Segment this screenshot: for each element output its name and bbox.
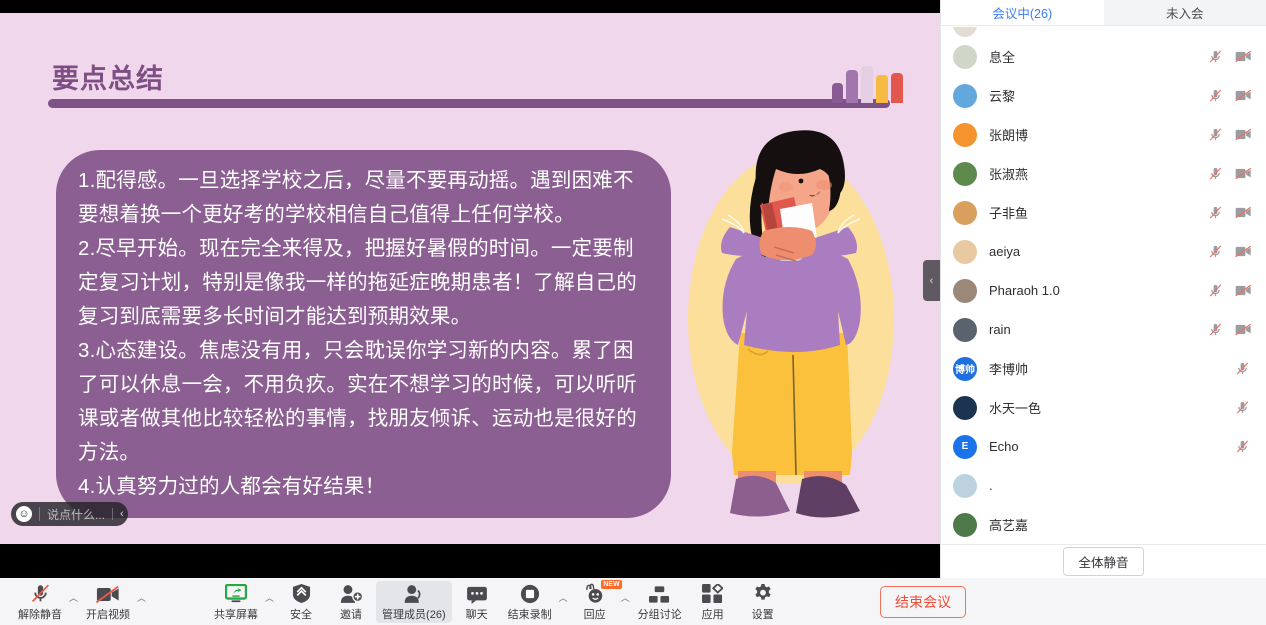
mic-off-icon[interactable]	[1208, 127, 1223, 142]
participant-name: .	[989, 478, 1250, 493]
mic-off-icon[interactable]	[1208, 283, 1223, 298]
toolbar-button-label: 结束录制	[508, 606, 552, 622]
avatar	[953, 45, 977, 69]
title-underline	[48, 99, 890, 108]
participant-status-icons	[1208, 283, 1250, 298]
participant-status-icons	[1235, 400, 1250, 415]
toolbar-button-label: 设置	[752, 606, 774, 622]
panel-collapse-handle[interactable]: ‹	[923, 260, 940, 301]
mic-off-icon[interactable]	[1208, 322, 1223, 337]
chevron-up-icon[interactable]: ︿	[559, 581, 568, 604]
gear-icon	[753, 583, 773, 604]
student-illustration	[676, 123, 906, 523]
share-screen-icon	[225, 583, 247, 604]
participant-row[interactable]: EEcho	[941, 427, 1266, 466]
participant-name: 云黎	[989, 86, 1208, 105]
camera-off-icon	[96, 583, 120, 604]
participants-panel-footer: 全体静音	[941, 544, 1266, 578]
partially-scrolled-avatar	[953, 27, 977, 37]
participants-panel: 会议中(26) 未入会 息全云黎张朗博张淑燕子非鱼aeiyaPharaoh 1.…	[940, 0, 1266, 578]
invite-user-icon	[340, 583, 363, 604]
toolbar-button-stop-record[interactable]: 结束录制	[502, 581, 558, 623]
participant-status-icons	[1208, 244, 1250, 259]
slide-paragraph-1: 1.配得感。一旦选择学校之后，尽量不要再动摇。遇到困难不要想着换一个更好考的学校…	[78, 164, 647, 232]
participant-row[interactable]: 张朗博	[941, 115, 1266, 154]
participant-row[interactable]: 张淑燕	[941, 154, 1266, 193]
toolbar-button-reaction[interactable]: NEW回应	[570, 581, 620, 623]
mic-off-icon[interactable]	[1208, 244, 1223, 259]
toolbar-button-chat[interactable]: 聊天	[452, 581, 502, 623]
mic-off-icon[interactable]	[1208, 49, 1223, 64]
toolbar-button-label: 开启视频	[86, 606, 130, 622]
avatar	[953, 162, 977, 186]
participant-status-icons	[1208, 205, 1250, 220]
toolbar-button-label: 管理成员(26)	[382, 606, 446, 622]
mic-off-icon[interactable]	[1208, 166, 1223, 181]
participant-name: 高艺嘉	[989, 515, 1250, 534]
slide-paragraph-4: 4.认真努力过的人都会有好结果！	[78, 470, 647, 504]
mic-off-icon[interactable]	[1208, 88, 1223, 103]
participant-status-icons	[1208, 166, 1250, 181]
camera-off-icon[interactable]	[1235, 88, 1250, 103]
participant-name: rain	[989, 322, 1208, 337]
divider	[39, 507, 40, 521]
camera-off-icon[interactable]	[1235, 244, 1250, 259]
avatar: 博帅	[953, 357, 977, 381]
avatar	[953, 201, 977, 225]
mic-off-icon[interactable]	[1208, 205, 1223, 220]
participants-icon	[402, 583, 425, 604]
participant-row[interactable]: rain	[941, 310, 1266, 349]
participant-status-icons	[1235, 439, 1250, 454]
meeting-window: 要点总结 1.配得感。一旦选择学校之后，尽量不要再动摇。遇到困难不要想着换一个更…	[0, 0, 1266, 625]
avatar	[953, 84, 977, 108]
toolbar-button-breakout[interactable]: 分组讨论	[632, 581, 688, 623]
toolbar-button-apps[interactable]: 应用	[688, 581, 738, 623]
stop-record-icon	[520, 583, 540, 604]
chevron-up-icon[interactable]: ︿	[69, 581, 78, 604]
participant-status-icons	[1208, 127, 1250, 142]
toolbar-button-label: 应用	[702, 606, 724, 622]
smiley-icon[interactable]: ☺	[16, 506, 32, 522]
chevron-left-icon: ‹	[930, 275, 934, 287]
avatar	[953, 279, 977, 303]
toolbar-button-mic-off[interactable]: 解除静音	[12, 581, 68, 623]
participant-name: aeiya	[989, 244, 1208, 259]
slide-paragraph-2: 2.尽早开始。现在完全来得及，把握好暑假的时间。一定要制定复习计划，特别是像我一…	[78, 232, 647, 334]
toolbar-button-label: 分组讨论	[638, 606, 682, 622]
avatar	[953, 240, 977, 264]
avatar	[953, 474, 977, 498]
slide-title: 要点总结	[52, 57, 164, 96]
chevron-up-icon[interactable]: ︿	[265, 581, 274, 604]
participant-status-icons	[1208, 88, 1250, 103]
participant-row[interactable]: 高艺嘉	[941, 505, 1266, 544]
avatar	[953, 318, 977, 342]
new-badge: NEW	[601, 580, 621, 589]
chat-icon	[466, 583, 488, 604]
tab-not-joined[interactable]: 未入会	[1104, 0, 1266, 25]
chevron-up-icon[interactable]: ︿	[137, 581, 146, 604]
toolbar-button-label: 回应	[584, 606, 606, 622]
toolbar-button-participants[interactable]: 管理成员(26)	[376, 581, 452, 623]
presentation-slide: 要点总结 1.配得感。一旦选择学校之后，尽量不要再动摇。遇到困难不要想着换一个更…	[0, 13, 940, 544]
mic-off-icon[interactable]	[1235, 439, 1250, 454]
mic-off-icon	[30, 583, 51, 604]
slide-chat-input[interactable]: ☺ 说点什么... ‹	[11, 502, 128, 526]
participant-row[interactable]: 息全	[941, 37, 1266, 76]
apps-icon	[702, 583, 723, 604]
chevron-up-icon[interactable]: ︿	[621, 581, 630, 604]
toolbar-button-label: 解除静音	[18, 606, 62, 622]
participant-status-icons	[1208, 322, 1250, 337]
participant-name: 子非鱼	[989, 203, 1208, 222]
participant-name: Pharaoh 1.0	[989, 283, 1208, 298]
meeting-toolbar: 解除静音︿开启视频︿ 共享屏幕︿安全邀请管理成员(26)聊天结束录制︿NEW回应…	[0, 578, 1266, 625]
toolbar-main-group: 共享屏幕︿安全邀请管理成员(26)聊天结束录制︿NEW回应︿分组讨论应用设置	[208, 581, 788, 623]
toolbar-button-invite-user[interactable]: 邀请	[326, 581, 376, 623]
toolbar-left-group: 解除静音︿开启视频︿	[0, 581, 148, 623]
mic-off-icon[interactable]	[1235, 400, 1250, 415]
camera-off-icon[interactable]	[1235, 166, 1250, 181]
shared-screen-area: 要点总结 1.配得感。一旦选择学校之后，尽量不要再动摇。遇到困难不要想着换一个更…	[0, 0, 940, 578]
participant-name: 李博帅	[989, 359, 1235, 378]
avatar	[953, 513, 977, 537]
avatar: E	[953, 435, 977, 459]
chat-placeholder: 说点什么...	[47, 506, 105, 523]
participant-row[interactable]: 水天一色	[941, 388, 1266, 427]
avatar	[953, 123, 977, 147]
participant-status-icons	[1235, 361, 1250, 376]
participant-name: 息全	[989, 47, 1208, 66]
participant-row[interactable]: aeiya	[941, 232, 1266, 271]
mic-off-icon[interactable]	[1235, 361, 1250, 376]
participant-status-icons	[1208, 49, 1250, 64]
bar-chart-decoration-icon	[832, 65, 896, 103]
participant-row[interactable]: 子非鱼	[941, 193, 1266, 232]
camera-off-icon[interactable]	[1235, 49, 1250, 64]
toolbar-button-label: 聊天	[466, 606, 488, 622]
participant-row[interactable]: .	[941, 466, 1266, 505]
tab-in-meeting[interactable]: 会议中(26)	[941, 0, 1104, 25]
chevron-left-icon[interactable]: ‹	[112, 508, 124, 520]
toolbar-button-share-screen[interactable]: 共享屏幕	[208, 581, 264, 623]
camera-off-icon[interactable]	[1235, 322, 1250, 337]
shield-icon	[292, 583, 311, 604]
toolbar-button-shield[interactable]: 安全	[276, 581, 326, 623]
end-meeting-button[interactable]: 结束会议	[880, 586, 966, 618]
toolbar-button-label: 安全	[290, 606, 312, 622]
participant-name: 张朗博	[989, 125, 1208, 144]
slide-paragraph-3: 3.心态建设。焦虑没有用，只会耽误你学习新的内容。累了困了可以休息一会，不用负疚…	[78, 334, 647, 470]
camera-off-icon[interactable]	[1235, 283, 1250, 298]
participant-row[interactable]: 博帅李博帅	[941, 349, 1266, 388]
camera-off-icon[interactable]	[1235, 127, 1250, 142]
participant-name: 张淑燕	[989, 164, 1208, 183]
participant-name: Echo	[989, 439, 1235, 454]
participant-row[interactable]: 云黎	[941, 76, 1266, 115]
toolbar-button-gear[interactable]: 设置	[738, 581, 788, 623]
participant-row[interactable]: Pharaoh 1.0	[941, 271, 1266, 310]
participant-name: 水天一色	[989, 398, 1235, 417]
participant-list[interactable]: 息全云黎张朗博张淑燕子非鱼aeiyaPharaoh 1.0rain博帅李博帅水天…	[941, 27, 1266, 544]
slide-body-card: 1.配得感。一旦选择学校之后，尽量不要再动摇。遇到困难不要想着换一个更好考的学校…	[56, 150, 671, 518]
toolbar-button-label: 共享屏幕	[214, 606, 258, 622]
mute-all-button[interactable]: 全体静音	[1063, 547, 1143, 576]
toolbar-button-label: 邀请	[340, 606, 362, 622]
panel-tab-bar: 会议中(26) 未入会	[941, 0, 1266, 26]
avatar	[953, 396, 977, 420]
toolbar-button-camera-off[interactable]: 开启视频	[80, 581, 136, 623]
breakout-icon	[649, 583, 670, 604]
camera-off-icon[interactable]	[1235, 205, 1250, 220]
